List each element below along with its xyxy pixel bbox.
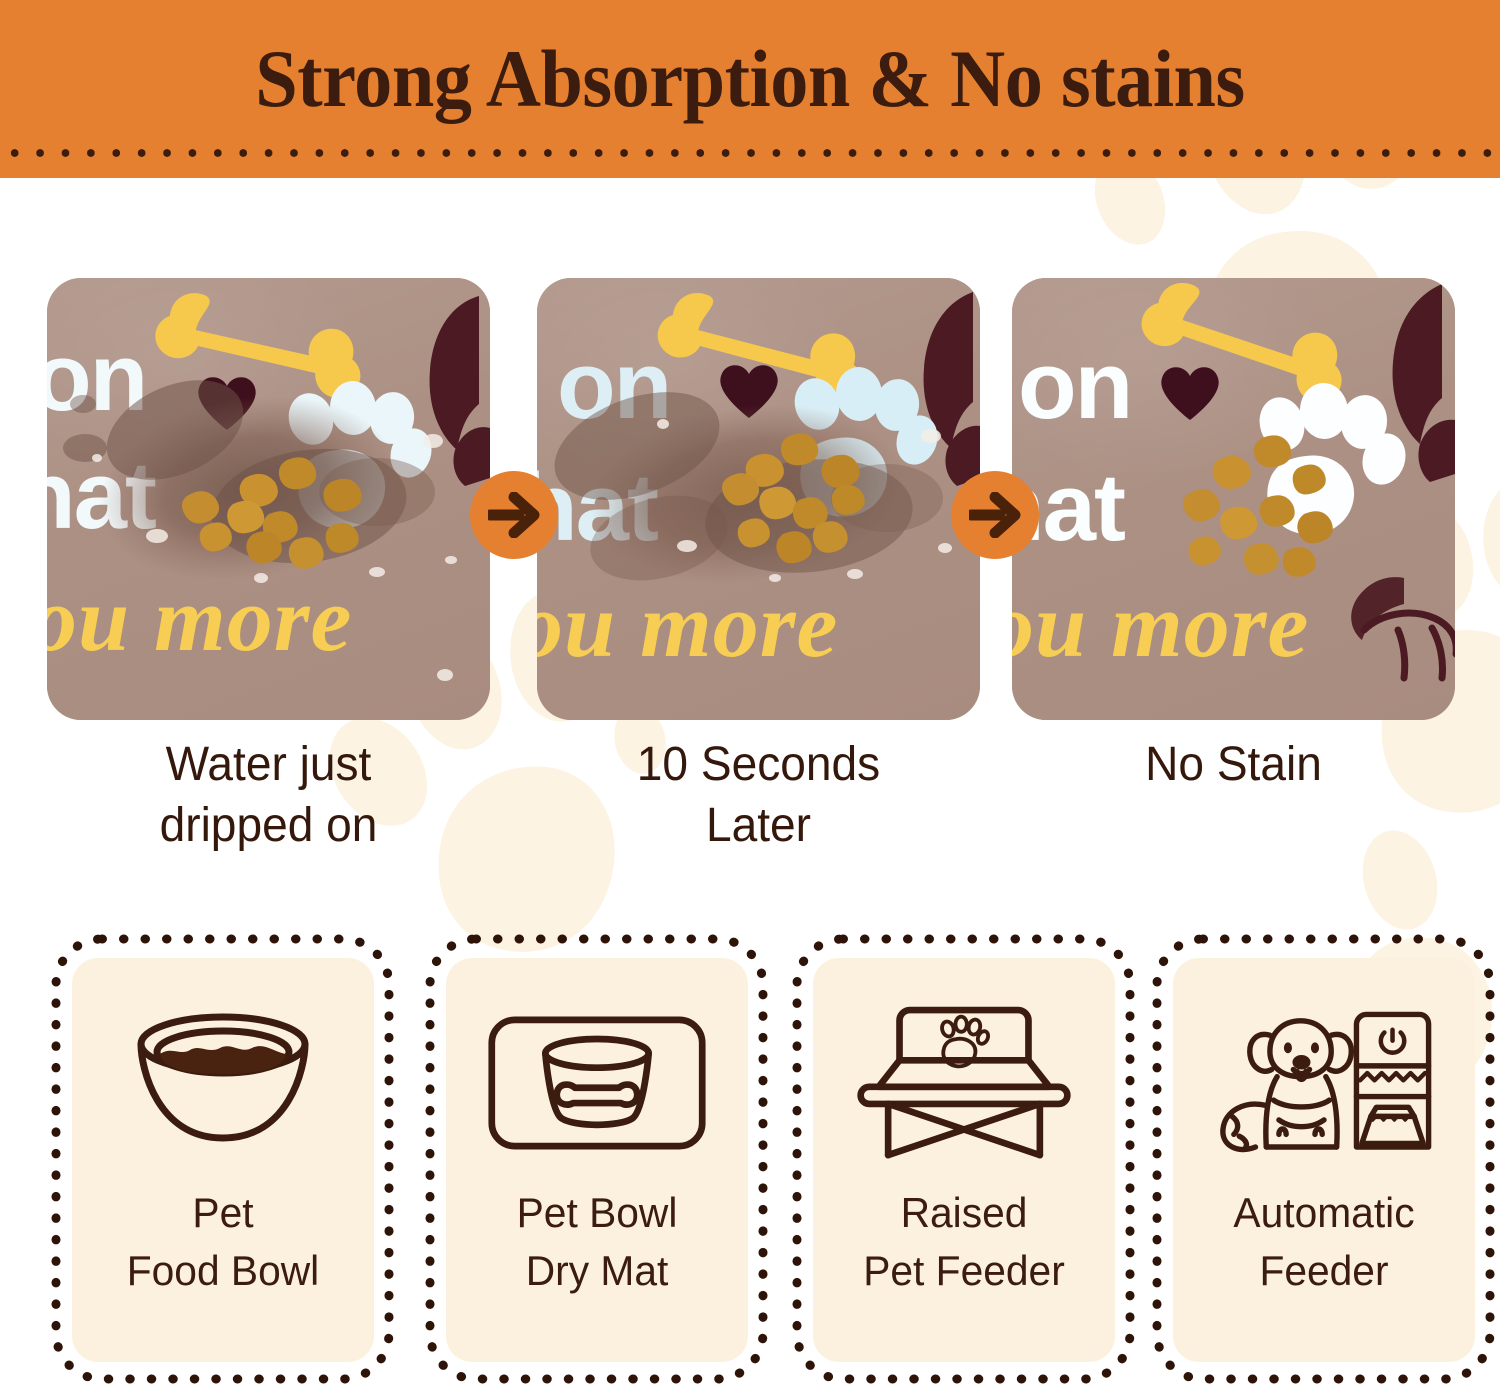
card-label: Raised Pet Feeder <box>818 1184 1111 1300</box>
demo-photo-wet: on hat <box>47 278 490 720</box>
caption-line: Later <box>546 795 971 856</box>
card-inner-panel: Pet Food Bowl <box>72 958 374 1362</box>
demo-photo-10s-graphics: on hat <box>537 278 980 720</box>
dog-ear-graphic <box>924 292 980 486</box>
mat-text-you-more: ou more <box>537 574 838 676</box>
use-case-cards: Pet Food Bowl <box>0 933 1500 1388</box>
pet-food-bowl-icon <box>113 988 333 1178</box>
caption-step-1: Water just dripped on <box>56 734 481 856</box>
raised-pet-feeder-icon <box>854 988 1074 1178</box>
card-label-line: Dry Mat <box>451 1242 744 1300</box>
automatic-feeder-icon <box>1214 988 1434 1178</box>
use-case-card-automatic-feeder[interactable]: Automatic Feeder <box>1151 933 1496 1385</box>
card-label: Pet Food Bowl <box>77 1184 370 1300</box>
demo-photo-dry-graphics: on hat <box>1012 278 1455 720</box>
dog-ear-graphic <box>430 296 490 486</box>
card-label-line: Food Bowl <box>77 1242 370 1300</box>
step-arrow-1 <box>470 471 558 559</box>
card-label-line: Automatic <box>1178 1184 1471 1242</box>
demo-photo-wet-graphics: on hat <box>47 278 490 720</box>
arrow-right-icon <box>969 492 1021 538</box>
arrow-right-icon <box>488 492 540 538</box>
use-case-card-pet-food-bowl[interactable]: Pet Food Bowl <box>50 933 395 1385</box>
svg-text:ou more: ou more <box>47 568 352 670</box>
use-case-card-pet-bowl-dry-mat[interactable]: Pet Bowl Dry Mat <box>424 933 769 1385</box>
pet-bowl-dry-mat-icon <box>487 988 707 1178</box>
card-inner-panel: Automatic Feeder <box>1173 958 1475 1362</box>
header-banner: Strong Absorption & No stains <box>0 0 1500 178</box>
use-case-card-raised-pet-feeder[interactable]: Raised Pet Feeder <box>791 933 1136 1385</box>
caption-step-3: No Stain <box>1021 734 1446 795</box>
step-arrow-2 <box>951 471 1039 559</box>
svg-text:ou more: ou more <box>537 574 838 676</box>
card-label: Pet Bowl Dry Mat <box>451 1184 744 1300</box>
dog-paw-outline <box>1364 613 1455 678</box>
card-label-line: Feeder <box>1178 1242 1471 1300</box>
caption-step-2: 10 Seconds Later <box>546 734 971 856</box>
caption-line: dripped on <box>56 795 481 856</box>
absorption-demo-strip: on hat <box>0 278 1500 720</box>
svg-text:on: on <box>1018 332 1131 439</box>
mat-text-on: on <box>1018 332 1131 439</box>
svg-text:ou more: ou more <box>1012 574 1309 676</box>
page-title: Strong Absorption & No stains <box>53 34 1448 124</box>
card-label-line: Pet Feeder <box>818 1242 1111 1300</box>
caption-line: 10 Seconds <box>546 734 971 795</box>
heart-graphic <box>1161 367 1218 420</box>
demo-photo-dry: on hat <box>1012 278 1455 720</box>
caption-line: No Stain <box>1021 734 1446 795</box>
card-inner-panel: Raised Pet Feeder <box>813 958 1115 1362</box>
header-dotted-divider <box>0 147 1500 159</box>
card-inner-panel: Pet Bowl Dry Mat <box>446 958 748 1362</box>
card-label-line: Raised <box>818 1184 1111 1242</box>
card-label-line: Pet <box>77 1184 370 1242</box>
caption-line: Water just <box>56 734 481 795</box>
mat-text-you-more: ou more <box>47 568 352 670</box>
mat-text-you-more: ou more <box>1012 574 1309 676</box>
card-label: Automatic Feeder <box>1178 1184 1471 1300</box>
card-label-line: Pet Bowl <box>451 1184 744 1242</box>
demo-captions: Water just dripped on 10 Seconds Later N… <box>0 734 1500 894</box>
demo-photo-10s: on hat <box>537 278 980 720</box>
